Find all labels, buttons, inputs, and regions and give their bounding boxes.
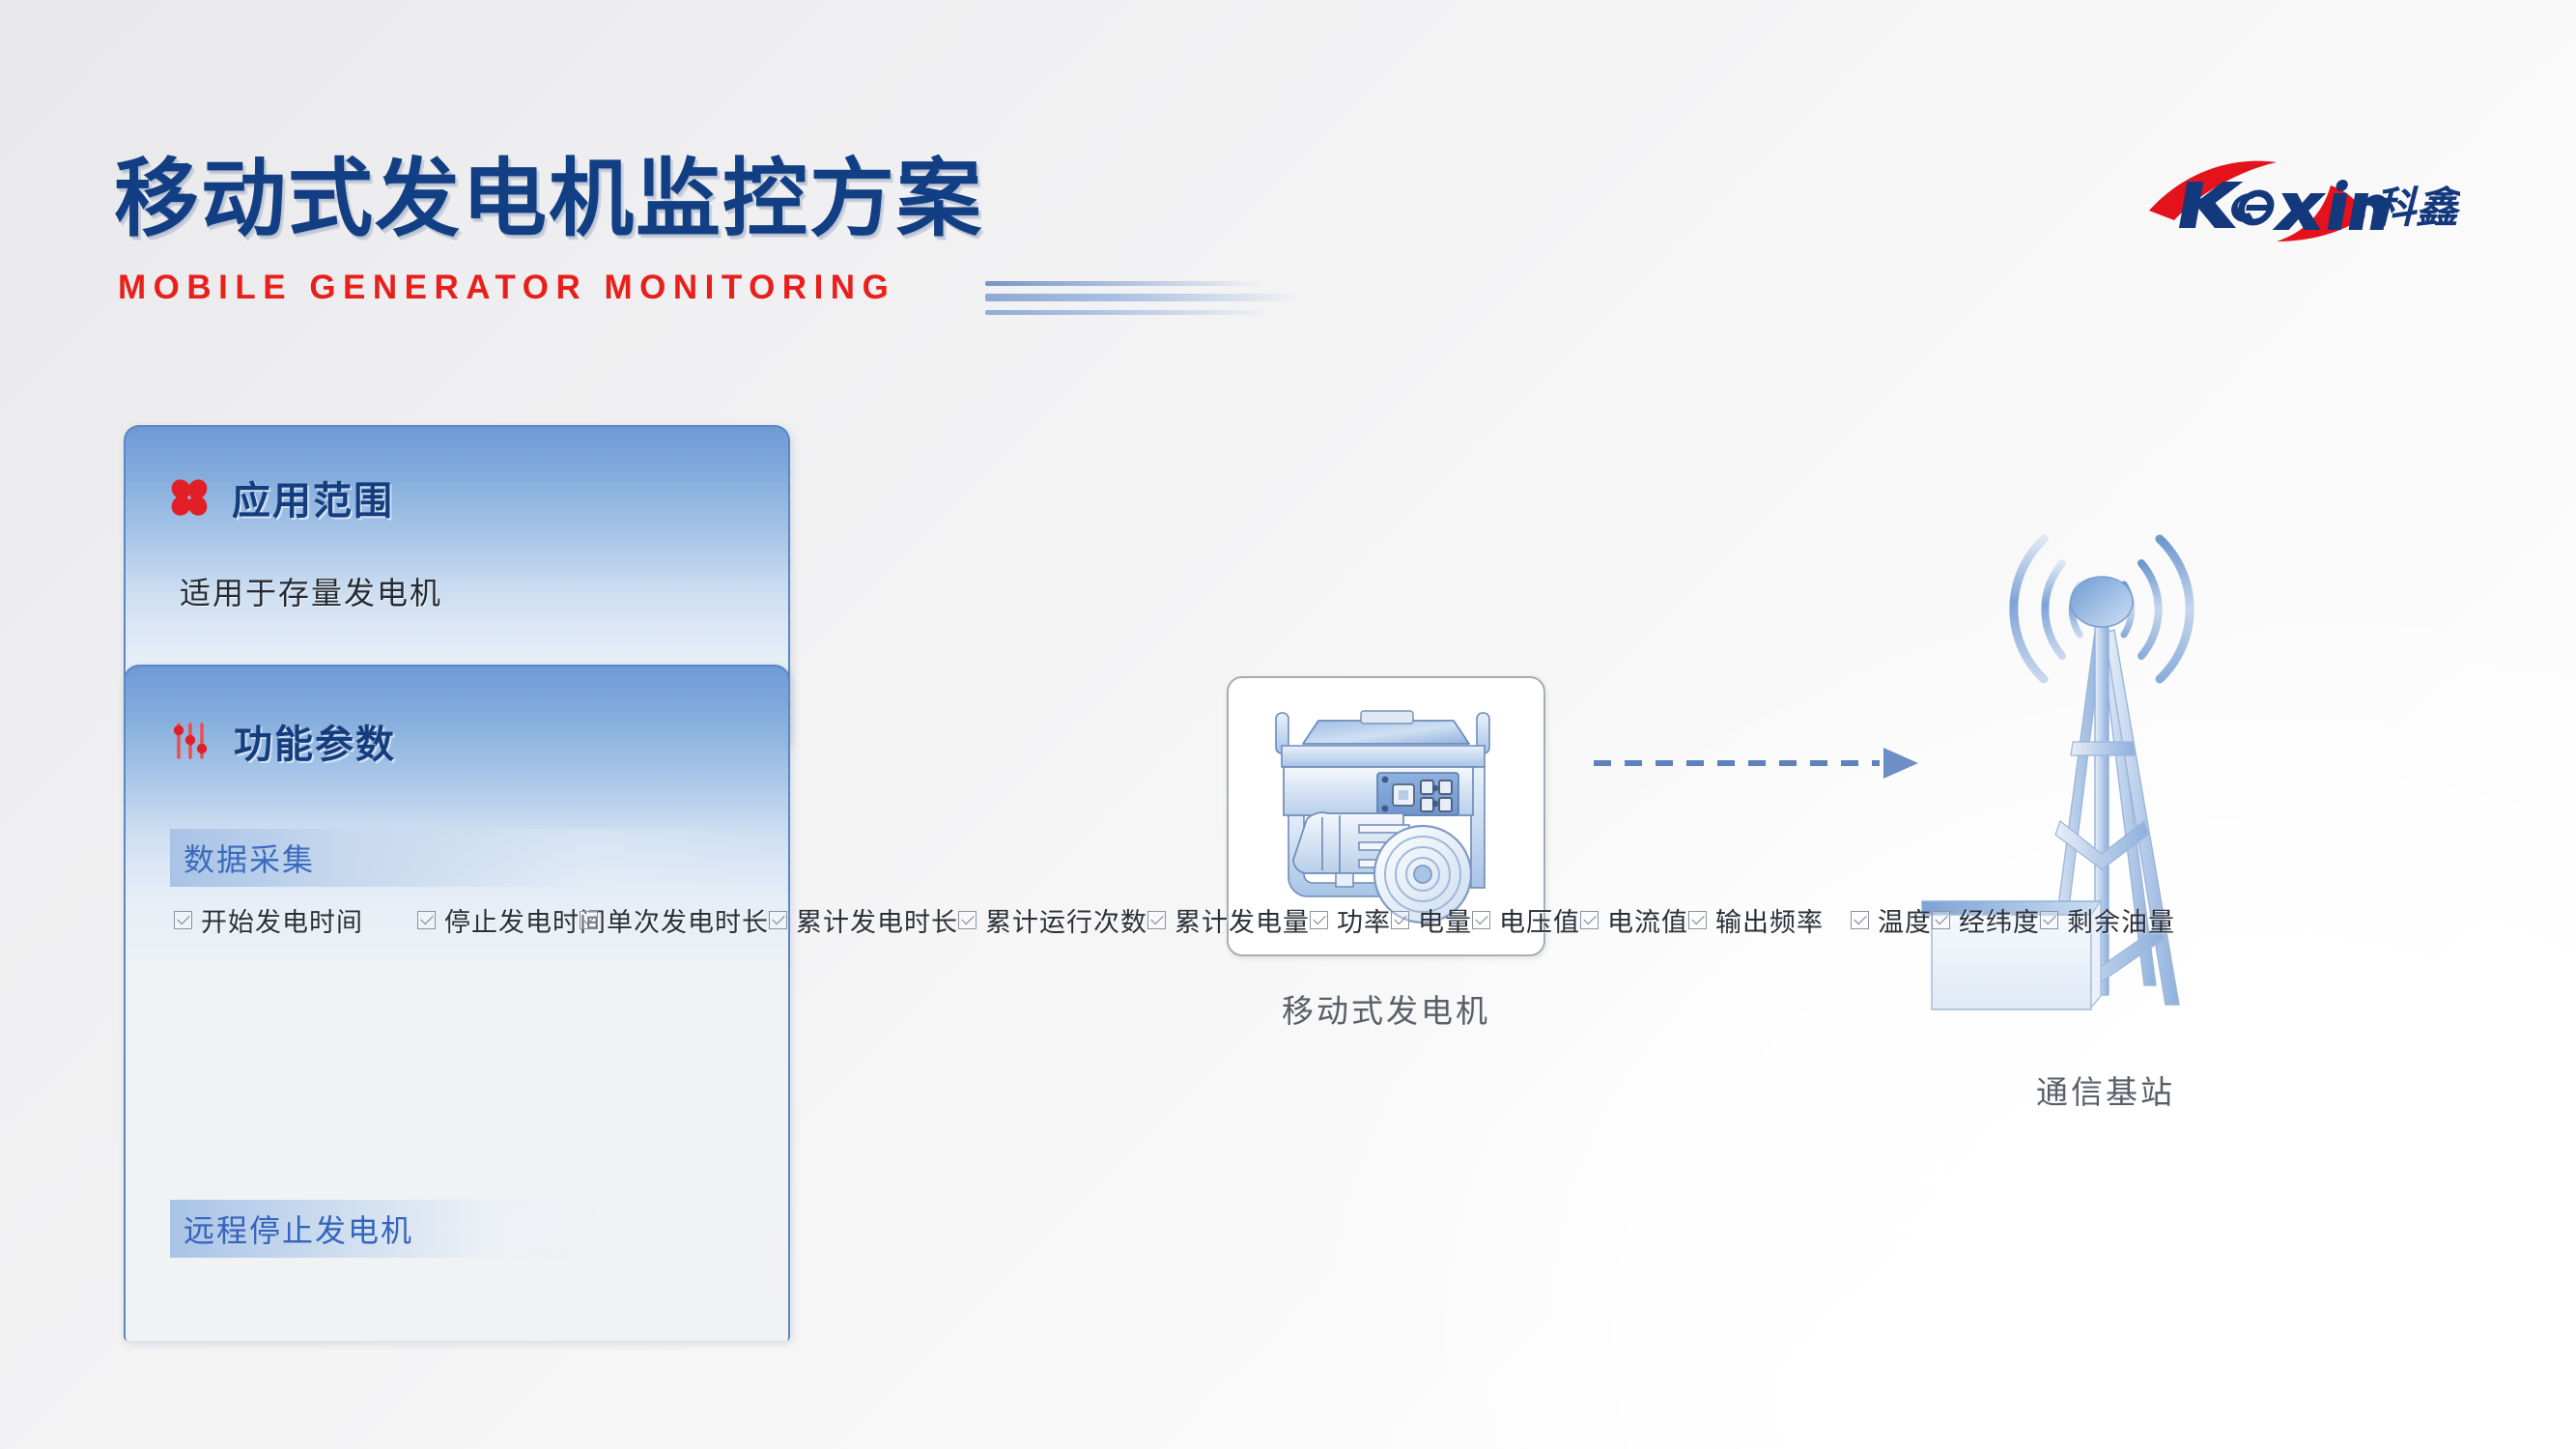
brand-cjk-text: 科鑫	[2373, 185, 2460, 232]
cell-tower-icon	[1903, 464, 2308, 1053]
page-title: 移动式发电机监控方案	[114, 130, 983, 253]
checklist-item[interactable]: 停止发电时间	[417, 898, 580, 941]
dashed-arrow-icon	[1594, 744, 1932, 782]
checklist-item-label: 剩余油量	[2067, 901, 2175, 939]
card-title-function-parameters: 功能参数	[234, 713, 396, 769]
checkbox-icon[interactable]	[1688, 911, 1707, 929]
card-title-application-scope: 应用范围	[232, 469, 394, 526]
card-header-application-scope: 应用范围	[168, 469, 394, 526]
sliders-icon	[168, 719, 212, 763]
checklist-item-label: 开始发电时间	[201, 901, 363, 939]
flower-icon	[168, 476, 211, 519]
diagram-node-base-station: 通信基站	[1903, 464, 2308, 1113]
base-station-label: 通信基站	[1903, 1066, 2308, 1113]
system-diagram: 移动式发电机	[1140, 454, 2492, 1169]
decoration-line-2	[985, 294, 1304, 301]
checklist-item[interactable]: 电量	[1391, 898, 1472, 941]
diagram-node-generator: 移动式发电机	[1227, 676, 1545, 1032]
card-function-parameters: 功能参数 数据采集 开始发电时间 停止发电时间 单次发电时长 累计发电时长 累计…	[124, 665, 790, 1341]
checklist-item-label: 温度	[1878, 901, 1932, 939]
checklist-item[interactable]: 剩余油量	[2040, 898, 2175, 941]
checkbox-icon[interactable]	[1580, 911, 1599, 929]
checklist-item-label: 电流值	[1607, 901, 1688, 939]
subsection-data-collection: 数据采集	[170, 829, 769, 887]
checklist-item[interactable]: 功率	[1310, 898, 1391, 941]
checkbox-icon[interactable]	[1391, 911, 1409, 929]
checkbox-icon[interactable]	[1932, 911, 1950, 929]
checkbox-icon[interactable]	[1851, 911, 1869, 929]
checklist-item[interactable]: 开始发电时间	[174, 898, 417, 941]
application-scope-description: 适用于存量发电机	[180, 569, 442, 613]
checkbox-icon[interactable]	[580, 911, 598, 929]
checklist-item[interactable]: 累计运行次数	[958, 898, 1147, 941]
page-subtitle: MOBILE GENERATOR MONITORING	[118, 269, 895, 307]
decoration-line-3	[985, 310, 1275, 315]
checkbox-icon[interactable]	[769, 911, 787, 929]
checkbox-icon[interactable]	[417, 911, 436, 929]
checkbox-icon[interactable]	[2040, 911, 2058, 929]
checklist-item-label: 电压值	[1499, 901, 1580, 939]
checkbox-icon[interactable]	[174, 911, 192, 929]
generator-icon	[1257, 703, 1515, 930]
checklist-item[interactable]: 输出频率	[1688, 898, 1824, 941]
checklist-item-label: 累计运行次数	[985, 901, 1147, 939]
checkbox-icon[interactable]	[1472, 911, 1490, 929]
checklist-item-label: 累计发电量	[1175, 901, 1310, 939]
card-header-function-parameters: 功能参数	[168, 713, 396, 769]
brand-logo: 科鑫	[2141, 156, 2460, 245]
page-header: 移动式发电机监控方案 MOBILE GENERATOR MONITORING	[0, 0, 2576, 348]
checklist-item-label: 单次发电时长	[607, 901, 769, 939]
checklist-item-label: 经纬度	[1959, 901, 2040, 939]
checklist-item-label: 输出频率	[1715, 901, 1824, 939]
checklist-item[interactable]: 温度	[1851, 898, 1932, 941]
data-collection-checklist: 开始发电时间 停止发电时间 单次发电时长 累计发电时长 累计运行次数 累计发电量…	[174, 898, 763, 941]
checklist-item[interactable]: 经纬度	[1932, 898, 2040, 941]
checklist-item-label: 功率	[1337, 901, 1391, 939]
subsection-remote-stop: 远程停止发电机	[170, 1200, 624, 1258]
checklist-item[interactable]: 电压值	[1472, 898, 1580, 941]
checkbox-icon[interactable]	[1310, 911, 1328, 929]
checklist-item-label: 累计发电时长	[796, 901, 958, 939]
checklist-item[interactable]: 累计发电量	[1147, 898, 1310, 941]
subtitle-decoration-lines	[985, 278, 1304, 323]
checklist-item[interactable]: 单次发电时长	[580, 898, 769, 941]
checklist-item[interactable]: 累计发电时长	[769, 898, 958, 941]
checklist-item[interactable]: 电流值	[1580, 898, 1688, 941]
decoration-line-1	[985, 281, 1265, 286]
checkbox-icon[interactable]	[1147, 911, 1166, 929]
checkbox-icon[interactable]	[958, 911, 977, 929]
generator-label: 移动式发电机	[1227, 985, 1545, 1032]
checklist-item-label: 电量	[1418, 901, 1472, 939]
